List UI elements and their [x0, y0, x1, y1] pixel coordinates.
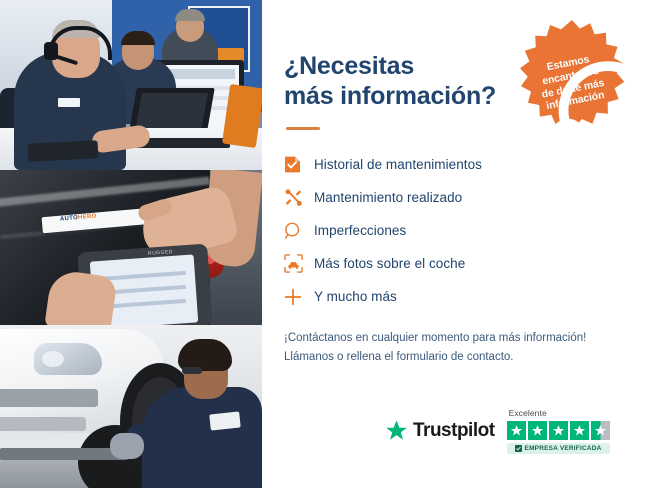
trustpilot-block[interactable]: Trustpilot Excelente: [384, 408, 610, 454]
star-filled: [528, 421, 547, 440]
promo-starburst-badge: Estamos encantados de darte más informac…: [510, 18, 634, 142]
contact-line-2: Llámanos o rellena el formulario de cont…: [284, 351, 514, 363]
feature-item-maintenance-history: Historial de mantenimientos: [284, 148, 584, 181]
desk-tablet: [28, 140, 99, 162]
work-glove: [110, 433, 144, 459]
star-filled: [570, 421, 589, 440]
star-rating: [507, 421, 610, 440]
photo-column: AUTOHERO RUGGED: [0, 0, 262, 488]
trustpilot-logo[interactable]: Trustpilot: [384, 419, 495, 443]
verified-label: EMPRESA VERIFICADA: [525, 445, 602, 452]
contact-info-banner: AUTOHERO RUGGED: [0, 0, 650, 488]
star-filled: [507, 421, 526, 440]
title-divider: [286, 127, 320, 130]
employee-name-badge: [58, 98, 80, 107]
headlight-reflector: [42, 351, 64, 367]
car-frame-icon: [284, 254, 314, 273]
clipboard-check-icon: [284, 155, 314, 174]
feature-item-imperfections: Imperfecciones: [284, 214, 584, 247]
badge-content: Estamos encantados de darte más informac…: [536, 52, 608, 114]
car-grille-upper: [0, 389, 98, 407]
feature-item-maintenance-done: Mantenimiento realizado: [284, 181, 584, 214]
tire-inspection-photo: [0, 325, 262, 488]
safety-glasses: [182, 367, 202, 374]
star-filled: [549, 421, 568, 440]
background-person-hair: [175, 9, 205, 21]
magnifier-icon: [284, 222, 314, 240]
feature-label: Y mucho más: [314, 289, 397, 304]
feature-label: Más fotos sobre el coche: [314, 256, 465, 271]
call-center-agents-photo: [0, 0, 262, 170]
feature-list: Historial de mantenimientos Mantenimient…: [284, 148, 584, 313]
feature-item-much-more: Y mucho más: [284, 280, 584, 313]
feature-label: Mantenimiento realizado: [314, 190, 462, 205]
car-lift-arm: [0, 448, 128, 460]
star-half: [591, 421, 610, 440]
crossed-tools-icon: [284, 188, 314, 207]
contact-text: ¡Contáctanos en cualquier momento para m…: [284, 329, 624, 366]
headline-line-2: más información?: [284, 82, 496, 110]
headline-line-1: ¿Necesitas: [284, 52, 414, 80]
car-headlight: [34, 343, 102, 375]
plus-icon: [284, 288, 314, 306]
verified-company-badge: EMPRESA VERIFICADA: [507, 443, 610, 454]
page-title: ¿Necesitas más información?: [284, 52, 514, 111]
trustpilot-star-icon: [384, 419, 409, 443]
car-grille-lower: [0, 417, 86, 431]
feature-label: Historial de mantenimientos: [314, 157, 482, 172]
vehicle-inspection-photo: AUTOHERO RUGGED: [0, 170, 262, 325]
trustpilot-rating: Excelente: [507, 408, 610, 454]
rating-label: Excelente: [509, 408, 547, 418]
orange-equipment: [222, 84, 262, 148]
mechanic-name-badge: [209, 411, 241, 430]
feature-label: Imperfecciones: [314, 223, 406, 238]
verified-check-icon: [515, 445, 522, 452]
feature-item-more-photos: Más fotos sobre el coche: [284, 247, 584, 280]
contact-line-1: ¡Contáctanos en cualquier momento para m…: [284, 332, 586, 344]
trustpilot-wordmark: Trustpilot: [413, 420, 495, 442]
content-panel: Estamos encantados de darte más informac…: [262, 0, 650, 488]
